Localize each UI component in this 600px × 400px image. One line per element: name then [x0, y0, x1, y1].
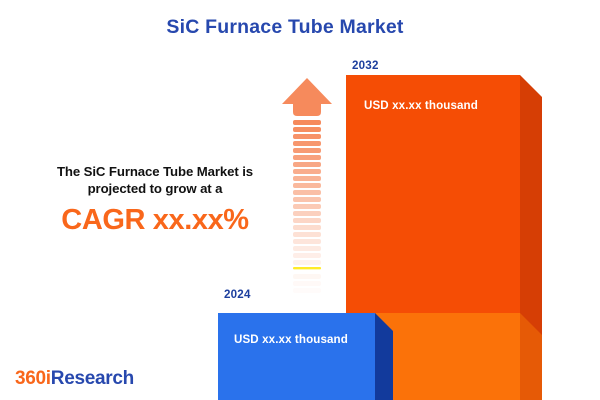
cagr-lead-text: The SiC Furnace Tube Market is projected… [30, 163, 280, 198]
bar-2024: USD xx.xx thousand [218, 313, 375, 400]
cagr-callout: The SiC Furnace Tube Market is projected… [30, 163, 280, 235]
infographic-canvas: SiC Furnace Tube Market The SiC Furnace … [0, 0, 600, 400]
brand-logo: 360iResearch [15, 368, 134, 390]
page-title: SiC Furnace Tube Market [0, 16, 570, 39]
cagr-lead-line1: The SiC Furnace Tube Market is [30, 163, 280, 180]
bar-2024-side-face [375, 313, 393, 400]
cagr-lead-line2: projected to grow at a [30, 180, 280, 197]
bar-year-label-2024: 2024 [224, 288, 251, 301]
bar-2024-value-label: USD xx.xx thousand [234, 333, 348, 346]
bar-2024-front-face: USD xx.xx thousand [218, 313, 375, 400]
upward-growth-arrow-icon [281, 78, 333, 300]
bar-2032-value-label: USD xx.xx thousand [364, 99, 478, 112]
brand-logo-360i: 360i [15, 368, 51, 389]
brand-logo-research: Research [51, 368, 134, 389]
cagr-value-text: CAGR xx.xx% [30, 205, 280, 235]
bar-year-label-2032: 2032 [352, 59, 379, 72]
bar-2032-side-face [520, 75, 542, 400]
